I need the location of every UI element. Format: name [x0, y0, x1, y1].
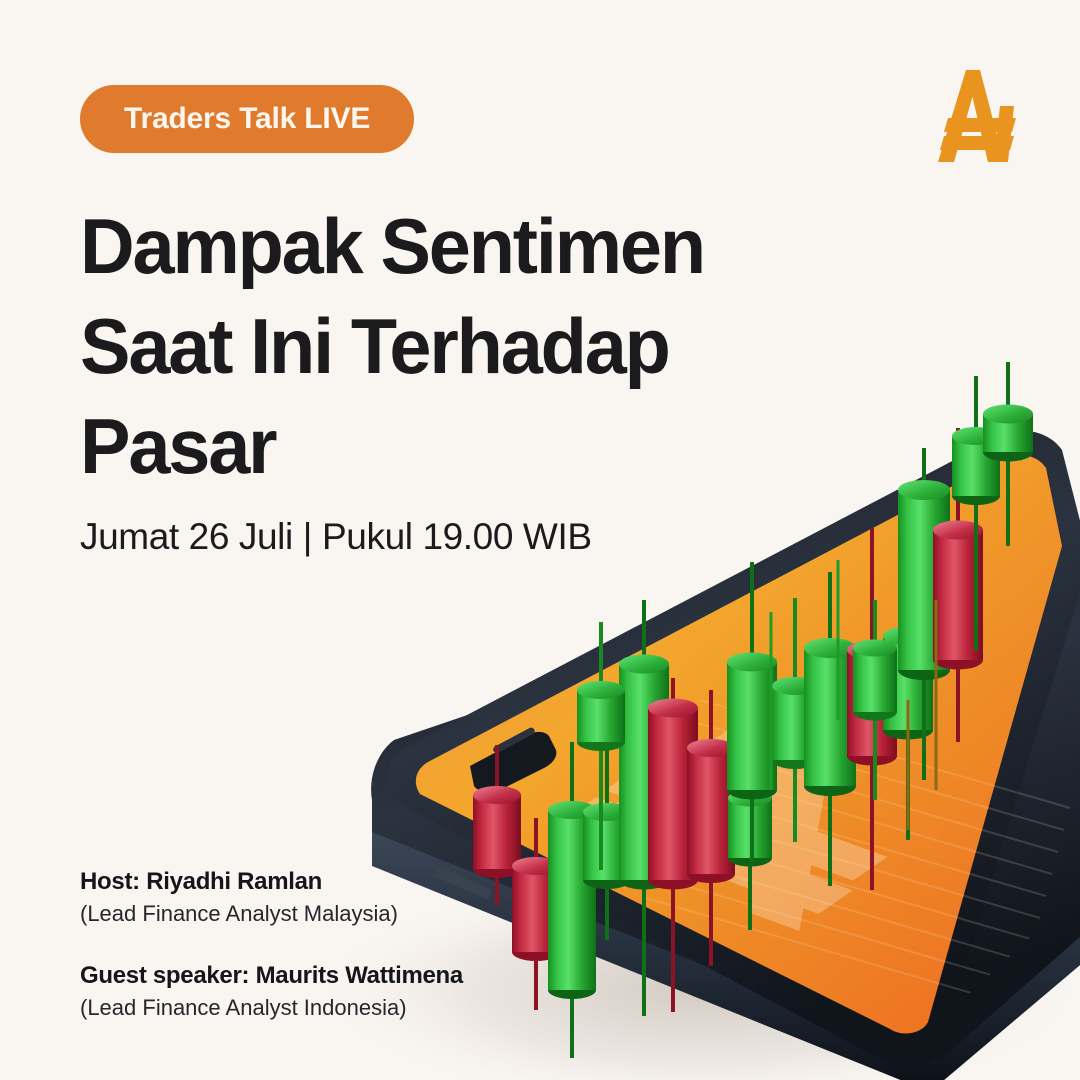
credit-host: Host: Riyadhi Ramlan (Lead Finance Analy… — [80, 866, 550, 930]
credit-host-role: (Lead Finance Analyst Malaysia) — [80, 898, 550, 930]
device-notch — [470, 732, 556, 793]
schedule-separator: | — [293, 516, 322, 557]
schedule-date: Jumat 26 Juli — [80, 516, 293, 557]
credit-guest-name: Guest speaker: Maurits Wattimena — [80, 960, 550, 992]
headline-line-1: Dampak Sentimen — [80, 196, 788, 296]
a-logo-watermark-icon — [548, 650, 965, 941]
brand-logo — [928, 66, 1024, 166]
credit-guest-role: (Lead Finance Analyst Indonesia) — [80, 992, 550, 1024]
schedule-line: Jumat 26 Juli|Pukul 19.00 WIB — [80, 516, 592, 558]
credit-host-name: Host: Riyadhi Ramlan — [80, 866, 550, 898]
live-badge[interactable]: Traders Talk LIVE — [80, 85, 414, 153]
earpiece-speaker-icon — [492, 726, 536, 754]
headline-line-3: Pasar — [80, 396, 788, 496]
page-title: Dampak Sentimen Saat Ini Terhadap Pasar — [80, 196, 788, 496]
credit-guest: Guest speaker: Maurits Wattimena (Lead F… — [80, 960, 550, 1024]
headline-line-2: Saat Ini Terhadap — [80, 296, 788, 396]
screen-stripe-texture — [646, 700, 1070, 1006]
live-badge-label: Traders Talk LIVE — [124, 102, 370, 136]
promo-poster: Traders Talk LIVE Dampak Sentimen Saat I… — [0, 0, 1080, 1080]
schedule-time: Pukul 19.00 WIB — [322, 516, 592, 557]
credits-block: Host: Riyadhi Ramlan (Lead Finance Analy… — [80, 866, 550, 1024]
anc-a-currency-logo-icon — [928, 66, 1024, 166]
